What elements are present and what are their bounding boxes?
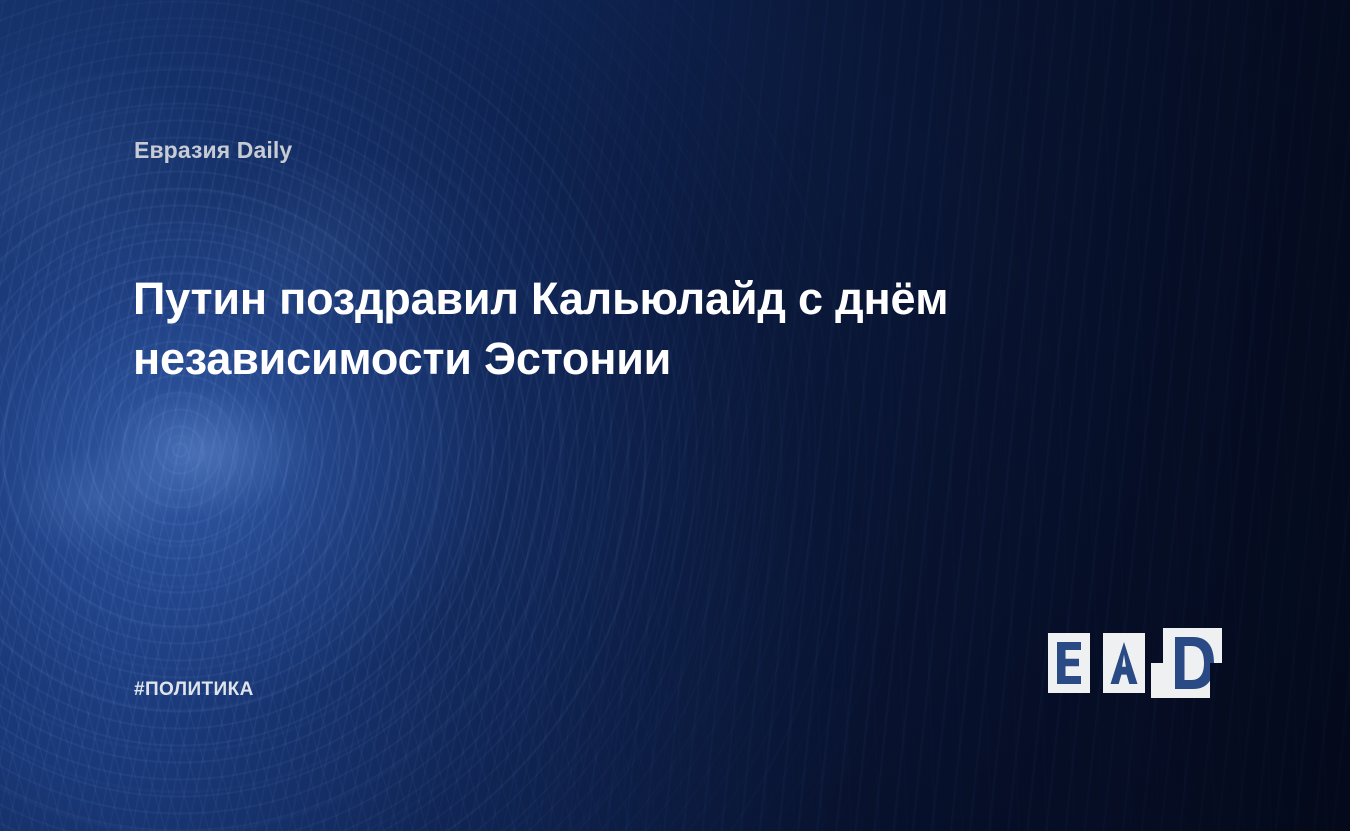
logo-tile-e [1048,633,1090,693]
logo-tile-d-lower [1151,663,1210,698]
headline-line-1: Путин поздравил Кальюлайд с днём [133,269,1153,329]
news-card: Евразия Daily Путин поздравил Кальюлайд … [0,0,1350,831]
card-content: Евразия Daily Путин поздравил Кальюлайд … [0,0,1350,831]
page-title: Путин поздравил Кальюлайд с днём независ… [133,269,1153,389]
category-tag: #ПОЛИТИКА [134,679,254,701]
logo-tile-a [1103,633,1145,693]
brand-name: Евразия Daily [134,137,292,164]
ead-logo [1046,614,1228,712]
logo-tile-d-upper [1163,628,1222,663]
headline-line-2: независимости Эстонии [133,329,1153,389]
